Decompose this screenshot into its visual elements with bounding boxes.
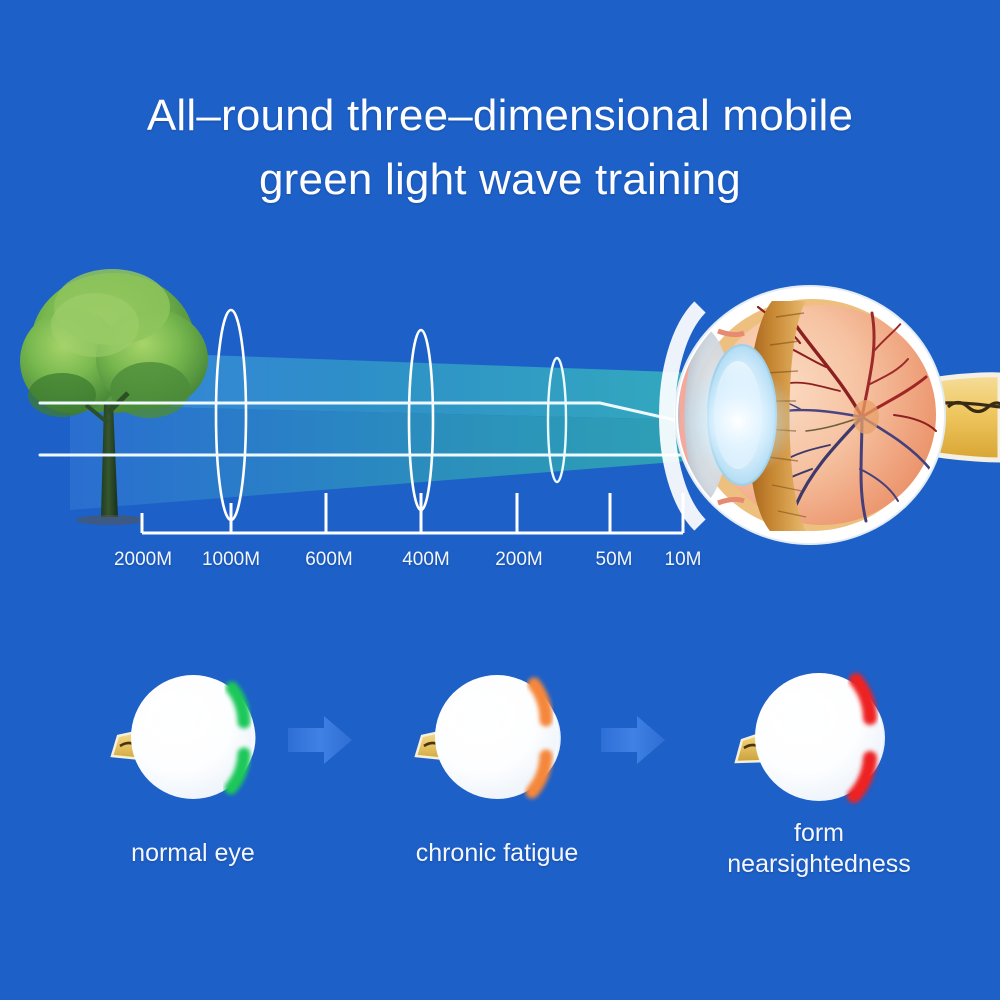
- arrow-2: [601, 716, 665, 764]
- distance-label-400m: 400M: [402, 549, 450, 571]
- light-beam-lower: [70, 405, 700, 510]
- stage-nearsightedness: [736, 673, 885, 801]
- page-title: All–round three–dimensional mobile green…: [0, 84, 1000, 212]
- title-line-1: All–round three–dimensional mobile: [147, 91, 853, 140]
- distance-label-600m: 600M: [305, 549, 353, 571]
- caption-chronic-fatigue: chronic fatigue: [416, 838, 579, 869]
- distance-label-10m: 10M: [665, 549, 702, 571]
- arrow-1: [288, 716, 352, 764]
- infographic-canvas: All–round three–dimensional mobile green…: [0, 0, 1000, 1000]
- stage-normal-eye: [112, 675, 256, 799]
- stage-chronic-fatigue: [416, 675, 561, 799]
- caption-normal-eye: normal eye: [131, 838, 255, 869]
- title-line-2: green light wave training: [0, 148, 1000, 212]
- focus-glow: [680, 363, 796, 479]
- distance-label-50m: 50M: [596, 549, 633, 571]
- distance-label-1000m: 1000M: [202, 549, 260, 571]
- distance-label-200m: 200M: [495, 549, 543, 571]
- distance-label-2000m: 2000M: [114, 549, 172, 571]
- eye-anatomy-cross-section: [667, 286, 1000, 544]
- caption-nearsightedness: form nearsightedness: [727, 818, 910, 880]
- optic-disc: [853, 400, 879, 434]
